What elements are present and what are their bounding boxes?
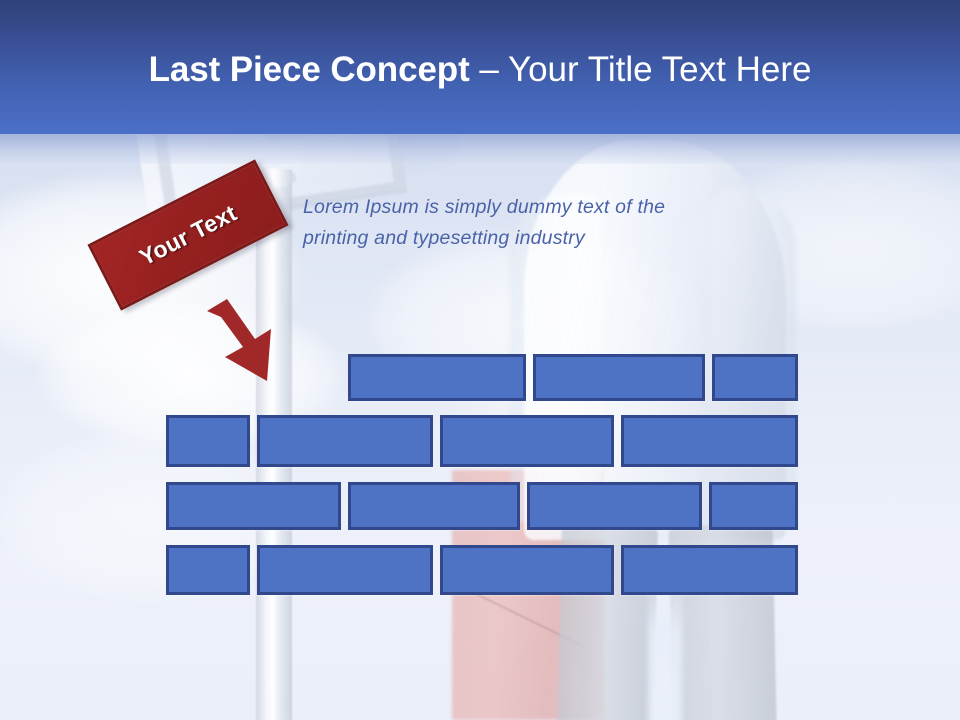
title-band-accent-stripe xyxy=(0,134,960,164)
brick-row-4-item-3[interactable] xyxy=(440,545,614,595)
brick-row-4-item-1[interactable] xyxy=(166,545,250,595)
brick-row-1-item-1[interactable] xyxy=(348,354,526,401)
brick-row-4-item-4[interactable] xyxy=(621,545,798,595)
brick-row-2-item-1[interactable] xyxy=(166,415,250,467)
page-title-bold-part: Last Piece Concept xyxy=(149,50,470,89)
body-paragraph: Lorem Ipsum is simply dummy text of the … xyxy=(303,192,733,254)
brick-row-2-item-3[interactable] xyxy=(440,415,614,467)
page-title: Last Piece Concept – Your Title Text Her… xyxy=(0,48,960,92)
page-title-light-part: – Your Title Text Here xyxy=(470,50,812,89)
brick-row-1-item-3[interactable] xyxy=(712,354,798,401)
brick-row-1-item-2[interactable] xyxy=(533,354,705,401)
brick-row-3-item-3[interactable] xyxy=(527,482,702,530)
down-right-elbow-arrow-icon xyxy=(205,297,277,385)
brick-row-4-item-2[interactable] xyxy=(257,545,433,595)
brick-row-2-item-2[interactable] xyxy=(257,415,433,467)
brick-row-3-item-2[interactable] xyxy=(348,482,520,530)
brick-row-2-item-4[interactable] xyxy=(621,415,798,467)
slide-canvas: Last Piece Concept – Your Title Text Her… xyxy=(0,0,960,720)
brick-row-3-item-4[interactable] xyxy=(709,482,798,530)
brick-row-3-item-1[interactable] xyxy=(166,482,341,530)
